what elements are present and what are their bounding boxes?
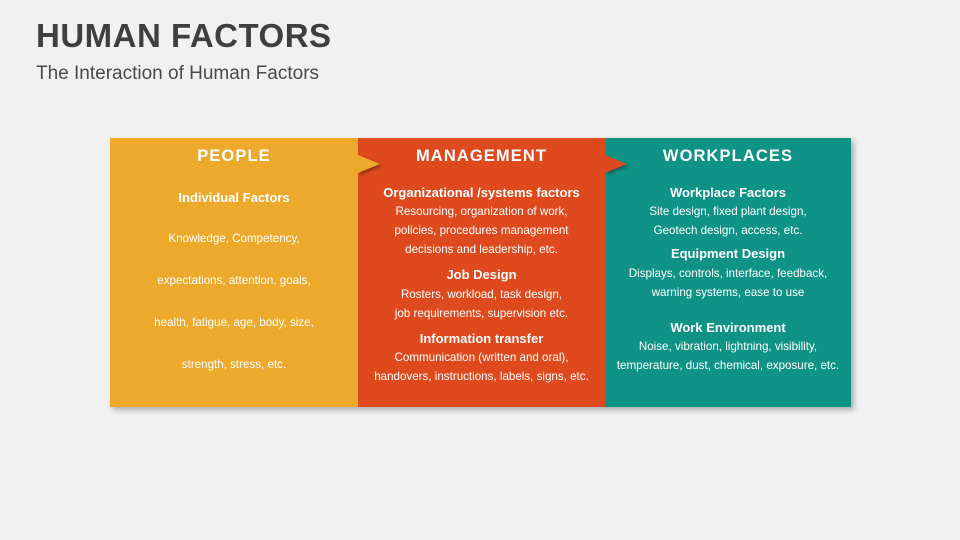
diagram-column-workplaces[interactable]: WORKPLACES Workplace Factors Site design… [605, 138, 851, 407]
page-subtitle: The Interaction of Human Factors [36, 63, 736, 86]
group-line: Rosters, workload, task design, [358, 287, 605, 303]
right-arrow-icon-people-to-management [358, 155, 380, 173]
group-individual-factors: Individual Factors Knowledge, Competency… [110, 189, 358, 374]
group-title: Organizational /systems factors [358, 184, 605, 202]
group-line: Communication (written and oral), [358, 350, 605, 366]
column-heading-people: PEOPLE [110, 138, 358, 167]
group-line: strength, stress, etc. [110, 357, 358, 374]
diagram-column-people[interactable]: PEOPLE Individual Factors Knowledge, Com… [110, 138, 358, 407]
diagram-column-management[interactable]: MANAGEMENT Organizational /systems facto… [358, 138, 605, 407]
group-line: health, fatigue, age, body, size, [110, 315, 358, 332]
page-title: HUMAN FACTORS [36, 18, 736, 54]
group-line: Noise, vibration, lightning, visibility, [605, 339, 851, 355]
column-heading-workplaces: WORKPLACES [605, 138, 851, 167]
group-title: Work Environment [605, 319, 851, 337]
human-factors-diagram: PEOPLE Individual Factors Knowledge, Com… [110, 138, 851, 407]
column-body-people: Individual Factors Knowledge, Competency… [110, 167, 358, 374]
group-equipment-design: Equipment Design Displays, controls, int… [605, 245, 851, 301]
group-line: expectations, attention, goals, [110, 273, 358, 290]
group-information-transfer: Information transfer Communication (writ… [358, 330, 605, 386]
column-body-workplaces: Workplace Factors Site design, fixed pla… [605, 167, 851, 375]
group-title: Job Design [358, 266, 605, 284]
group-title: Equipment Design [605, 245, 851, 263]
group-organizational-systems-factors: Organizational /systems factors Resourci… [358, 184, 605, 259]
right-arrow-icon-management-to-workplaces [605, 155, 627, 173]
group-line: Resourcing, organization of work, [358, 204, 605, 220]
group-line: decisions and leadership, etc. [358, 242, 605, 258]
group-line: temperature, dust, chemical, exposure, e… [605, 358, 851, 374]
group-line: Displays, controls, interface, feedback, [605, 266, 851, 282]
group-line: Knowledge, Competency, [110, 231, 358, 248]
group-line: warning systems, ease to use [605, 285, 851, 301]
group-title: Workplace Factors [605, 184, 851, 202]
group-workplace-factors: Workplace Factors Site design, fixed pla… [605, 184, 851, 240]
group-line: handovers, instructions, labels, signs, … [358, 369, 605, 385]
group-title: Individual Factors [110, 189, 358, 207]
slide-header: HUMAN FACTORS The Interaction of Human F… [36, 18, 736, 86]
group-line: Geotech design, access, etc. [605, 223, 851, 239]
group-line: Site design, fixed plant design, [605, 204, 851, 220]
column-heading-management: MANAGEMENT [358, 138, 605, 167]
column-body-management: Organizational /systems factors Resourci… [358, 167, 605, 386]
group-job-design: Job Design Rosters, workload, task desig… [358, 266, 605, 322]
group-line: job requirements, supervision etc. [358, 306, 605, 322]
group-line: policies, procedures management [358, 223, 605, 239]
group-title: Information transfer [358, 330, 605, 348]
group-work-environment: Work Environment Noise, vibration, light… [605, 319, 851, 375]
